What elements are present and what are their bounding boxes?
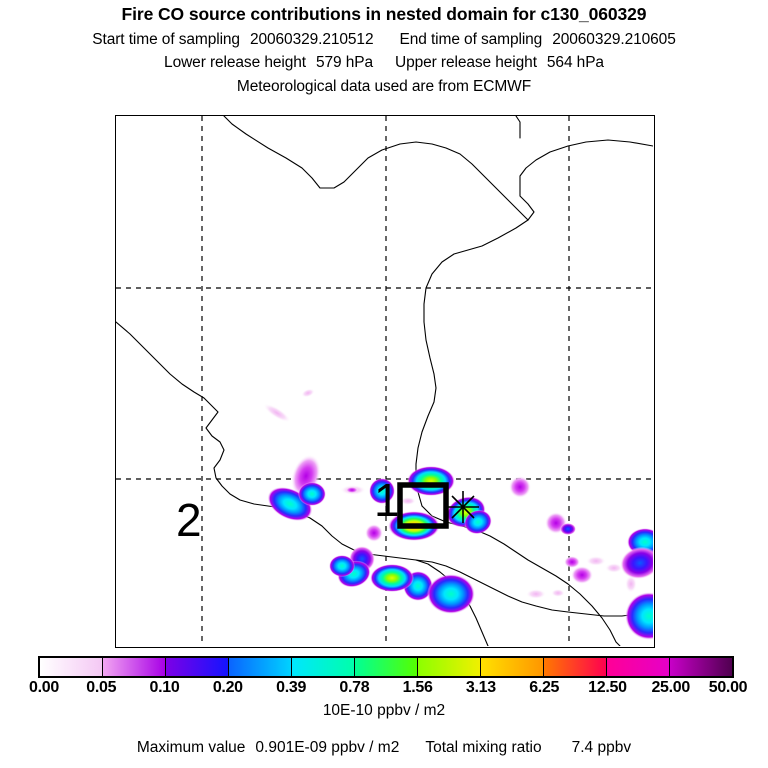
plume-blob [346, 487, 358, 493]
colorbar-tick: 3.13 [466, 678, 496, 698]
total-mixing-ratio-label: Total mixing ratio [425, 739, 541, 756]
coastline-northeast [520, 140, 653, 220]
colorbar-tick: 25.00 [651, 678, 690, 698]
colorbar-tick: 1.56 [403, 678, 433, 698]
plume-blob [261, 400, 293, 425]
colorbar-unit-label: 10E-10 ppbv / m2 [0, 703, 768, 719]
maximum-value-label: Maximum value [137, 739, 246, 756]
contour-label-2: 2 [176, 494, 202, 546]
lower-release-value: 579 hPa [316, 54, 373, 71]
release-heights-line: Lower release height579 hPaUpper release… [0, 55, 768, 71]
sampling-times-line: Start time of sampling20060329.210512End… [0, 32, 768, 48]
colorbar-band-gradient [418, 658, 480, 676]
total-mixing-ratio-value: 7.4 ppbv [572, 739, 631, 756]
map-svg: 1 2 [116, 116, 653, 646]
start-time-label: Start time of sampling [92, 31, 240, 48]
plume-blob [551, 589, 565, 597]
colorbar-band [355, 658, 418, 676]
colorbar-band [607, 658, 670, 676]
colorbar-tick: 6.25 [529, 678, 559, 698]
colorbar-band [40, 658, 103, 676]
plume-blob [300, 387, 316, 399]
upper-release-label: Upper release height [395, 54, 537, 71]
end-time-value: 20060329.210605 [552, 31, 676, 48]
plume-blob [526, 589, 546, 599]
colorbar-band [670, 658, 732, 676]
plume-blob [329, 555, 355, 577]
maximum-value: 0.901E-09 ppbv / m2 [255, 739, 399, 756]
colorbar-band-gradient [670, 658, 732, 676]
colorbar [38, 656, 734, 678]
footer-stats-line: Maximum value0.901E-09 ppbv / m2Total mi… [0, 740, 768, 756]
colorbar-tick-labels: 0.000.050.100.200.390.781.563.136.2512.5… [0, 678, 768, 698]
plume-blob [571, 566, 593, 584]
plume-blob [586, 556, 606, 566]
plume-blob [365, 524, 383, 542]
colorbar-band-gradient [292, 658, 354, 676]
colorbar-tick: 0.20 [213, 678, 243, 698]
upper-release-value: 564 hPa [547, 54, 604, 71]
colorbar-tick: 0.78 [339, 678, 369, 698]
colorbar-band [481, 658, 544, 676]
colorbar-tick: 0.05 [86, 678, 116, 698]
colorbar-band [544, 658, 607, 676]
plume-blob [509, 476, 531, 498]
coastline-inlet [516, 116, 520, 138]
met-data-line: Meteorological data used are from ECMWF [0, 79, 768, 95]
colorbar-band [103, 658, 166, 676]
colorbar-band-gradient [229, 658, 291, 676]
plume-blob [560, 523, 576, 535]
contour-label-1: 1 [374, 474, 400, 526]
colorbar-tick: 50.00 [709, 678, 748, 698]
plume-blob [625, 592, 653, 640]
coastline-north [224, 116, 528, 220]
lower-release-label: Lower release height [164, 54, 306, 71]
colorbar-band-gradient [481, 658, 543, 676]
header-block: Fire CO source contributions in nested d… [0, 0, 768, 94]
page-title: Fire CO source contributions in nested d… [0, 6, 768, 24]
end-time-label: End time of sampling [399, 31, 542, 48]
colorbar-band-gradient [166, 658, 228, 676]
plume-blob [617, 543, 653, 583]
plume-blob [427, 574, 475, 614]
colorbar-band-gradient [544, 658, 606, 676]
colorbar-tick: 0.39 [276, 678, 306, 698]
map-plot-area: 1 2 [115, 115, 655, 648]
colorbar-band-gradient [40, 658, 102, 676]
colorbar-band [418, 658, 481, 676]
colorbar-band-gradient [103, 658, 165, 676]
coastline-central-border [416, 220, 528, 506]
start-time-value: 20060329.210512 [250, 31, 374, 48]
colorbar-band [229, 658, 292, 676]
colorbar-tick: 0.00 [29, 678, 59, 698]
plume-blob [564, 556, 580, 568]
colorbar-band [166, 658, 229, 676]
plume-blob [298, 482, 326, 506]
colorbar-tick: 0.10 [150, 678, 180, 698]
colorbar-tick: 12.50 [588, 678, 627, 698]
colorbar-band-gradient [355, 658, 417, 676]
colorbar-band [292, 658, 355, 676]
colorbar-band-gradient [607, 658, 669, 676]
plume-blob [370, 564, 414, 592]
